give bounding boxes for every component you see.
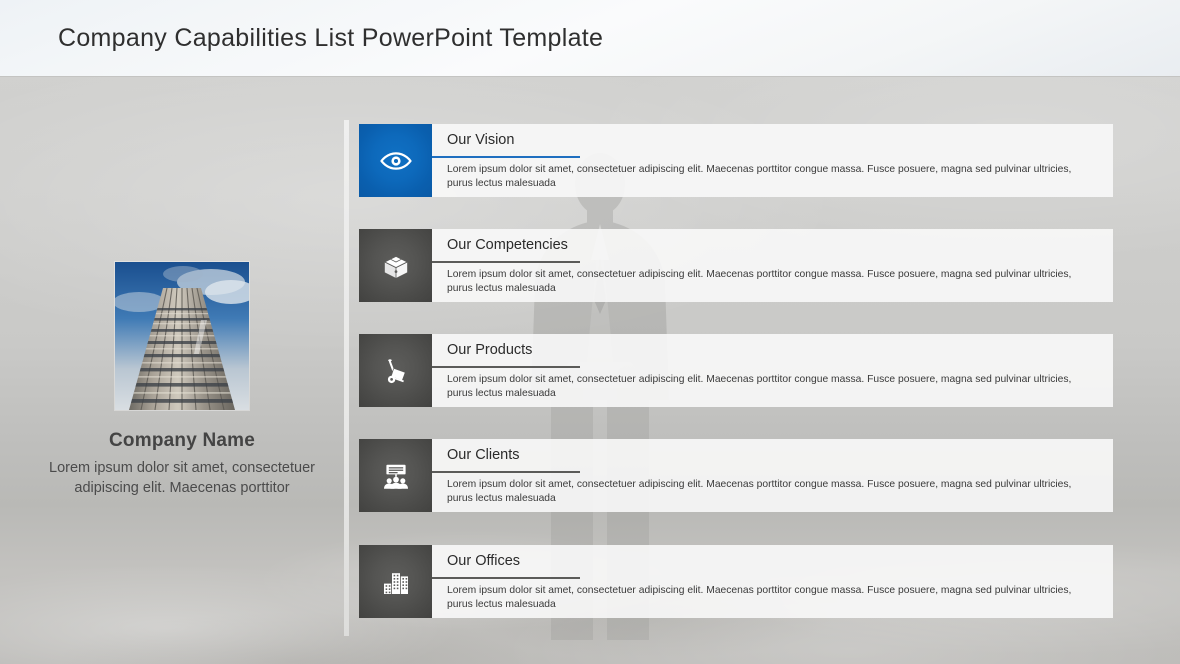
capability-title: Our Vision [447,132,514,148]
title-underline [432,577,580,579]
capability-title: Our Products [447,342,532,358]
capability-card-offices: Our Offices Lorem ipsum dolor sit amet, … [432,545,1113,618]
slide-header-bar: Company Capabilities List PowerPoint Tem… [0,0,1180,77]
title-underline [432,471,580,473]
capability-title: Our Clients [447,447,520,463]
capability-title: Our Competencies [447,237,568,253]
page-title: Company Capabilities List PowerPoint Tem… [58,24,603,53]
eye-icon [359,124,432,197]
title-underline [432,156,580,158]
capability-description: Lorem ipsum dolor sit amet, consectetuer… [447,268,1097,296]
company-profile-panel: Company Name Lorem ipsum dolor sit amet,… [12,262,352,498]
capability-description: Lorem ipsum dolor sit amet, consectetuer… [447,373,1097,401]
capability-card-competencies: Our Competencies Lorem ipsum dolor sit a… [432,229,1113,302]
company-name: Company Name [12,430,352,452]
skyscraper-photo [115,262,249,410]
capability-row-products[interactable]: Our Products Lorem ipsum dolor sit amet,… [359,334,1113,408]
capability-description: Lorem ipsum dolor sit amet, consectetuer… [447,163,1097,191]
capability-description: Lorem ipsum dolor sit amet, consectetuer… [447,584,1097,612]
title-underline [432,261,580,263]
capability-description: Lorem ipsum dolor sit amet, consectetuer… [447,478,1097,506]
audience-presentation-icon [359,439,432,512]
capability-row-competencies[interactable]: Our Competencies Lorem ipsum dolor sit a… [359,229,1113,303]
capability-row-offices[interactable]: Our Offices Lorem ipsum dolor sit amet, … [359,545,1113,619]
company-description: Lorem ipsum dolor sit amet, consectetuer… [27,458,337,498]
capability-row-vision[interactable]: Our Vision Lorem ipsum dolor sit amet, c… [359,124,1113,198]
office-buildings-icon [359,545,432,618]
capability-card-clients: Our Clients Lorem ipsum dolor sit amet, … [432,439,1113,512]
hand-truck-icon [359,334,432,407]
capability-row-clients[interactable]: Our Clients Lorem ipsum dolor sit amet, … [359,439,1113,513]
vertical-accent-rail [344,120,349,636]
capability-card-products: Our Products Lorem ipsum dolor sit amet,… [432,334,1113,407]
title-underline [432,366,580,368]
capability-title: Our Offices [447,553,520,569]
capability-card-vision: Our Vision Lorem ipsum dolor sit amet, c… [432,124,1113,197]
package-box-icon [359,229,432,302]
